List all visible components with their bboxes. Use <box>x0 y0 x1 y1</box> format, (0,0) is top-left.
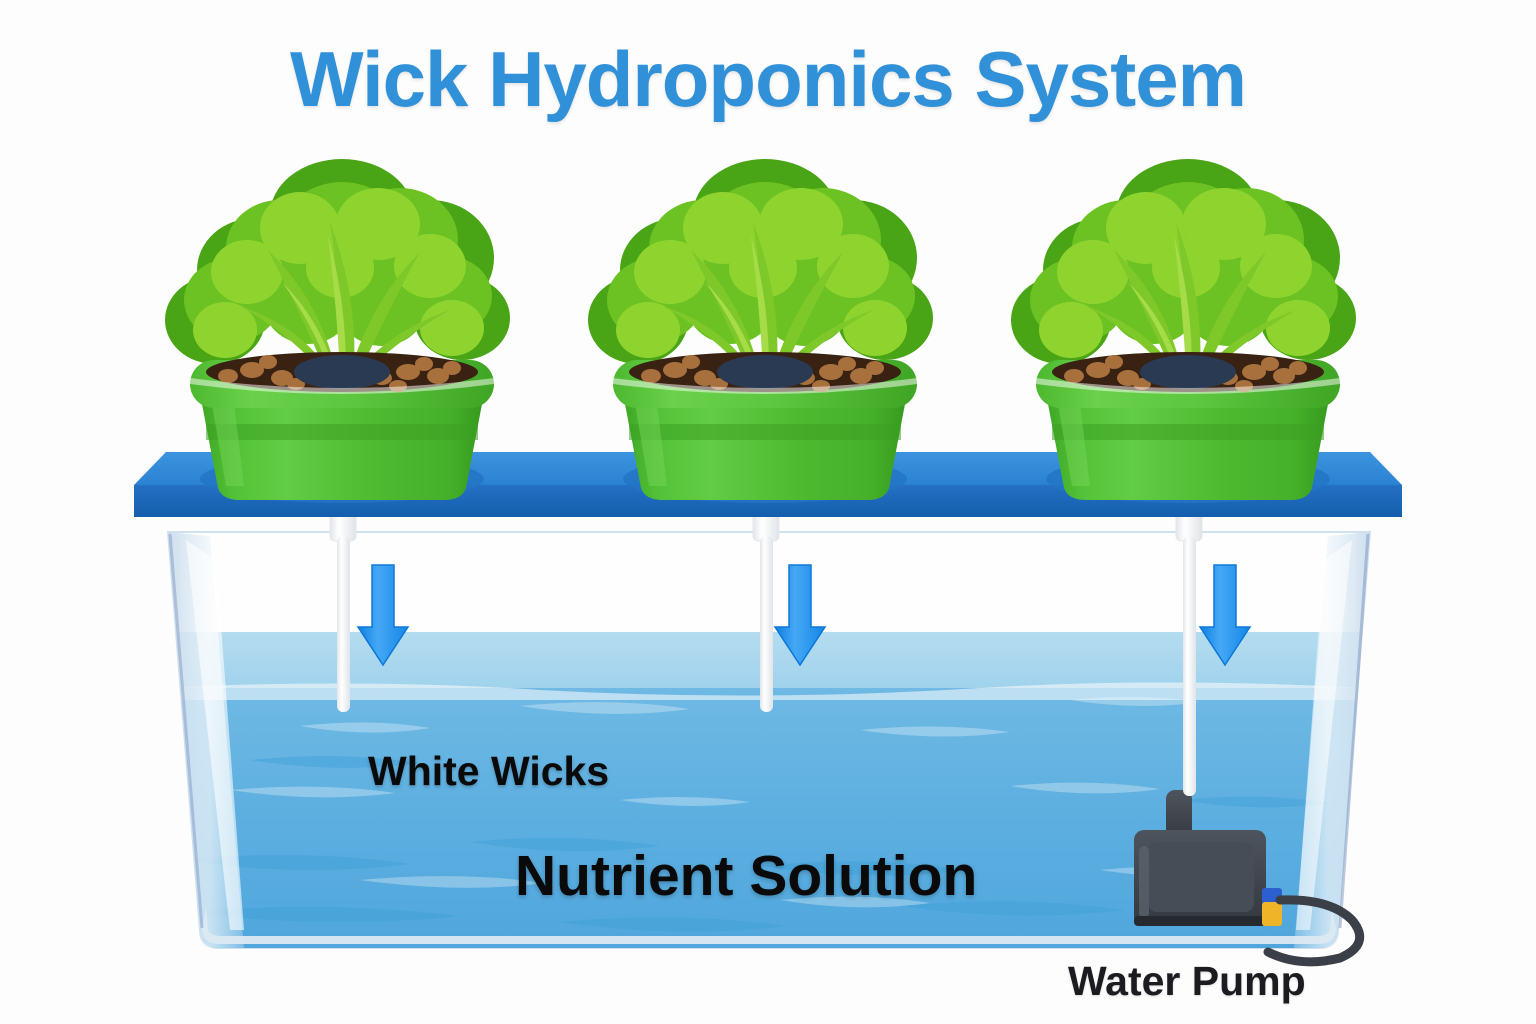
pot-net-collar <box>294 355 390 389</box>
plant-unit-2[interactable] <box>588 159 933 500</box>
grow-pot-3 <box>1036 352 1340 500</box>
plant-unit-3[interactable] <box>1011 159 1356 500</box>
pump-side-highlight <box>1139 846 1149 918</box>
lettuce-foliage-3 <box>1011 159 1356 372</box>
wick-strand <box>1183 536 1196 796</box>
label-white-wicks: White Wicks <box>368 748 609 795</box>
grow-pot-2 <box>613 352 917 500</box>
pot-body <box>625 404 905 500</box>
pump-face-panel <box>1148 842 1254 912</box>
lettuce-foliage-1 <box>165 159 510 372</box>
pump-connector-yellow <box>1262 902 1282 926</box>
pot-body <box>1048 404 1328 500</box>
lettuce-foliage-2 <box>588 159 933 372</box>
pump-base-shadow <box>1134 916 1266 926</box>
diagram-canvas: Wick Hydroponics System White Wicks Nutr… <box>0 0 1536 1024</box>
pot-net-collar <box>717 355 813 389</box>
pot-net-collar <box>1140 355 1236 389</box>
label-nutrient-solution: Nutrient Solution <box>515 843 977 909</box>
pot-band <box>1052 424 1324 440</box>
pot-body <box>202 404 482 500</box>
grow-pot-1 <box>190 352 494 500</box>
wick-strand <box>337 536 350 712</box>
page-title: Wick Hydroponics System <box>0 34 1536 125</box>
wick-strand <box>760 536 773 712</box>
pot-band <box>629 424 901 440</box>
pot-band <box>206 424 478 440</box>
label-water-pump: Water Pump <box>1068 958 1306 1005</box>
plant-unit-1[interactable] <box>165 159 510 500</box>
